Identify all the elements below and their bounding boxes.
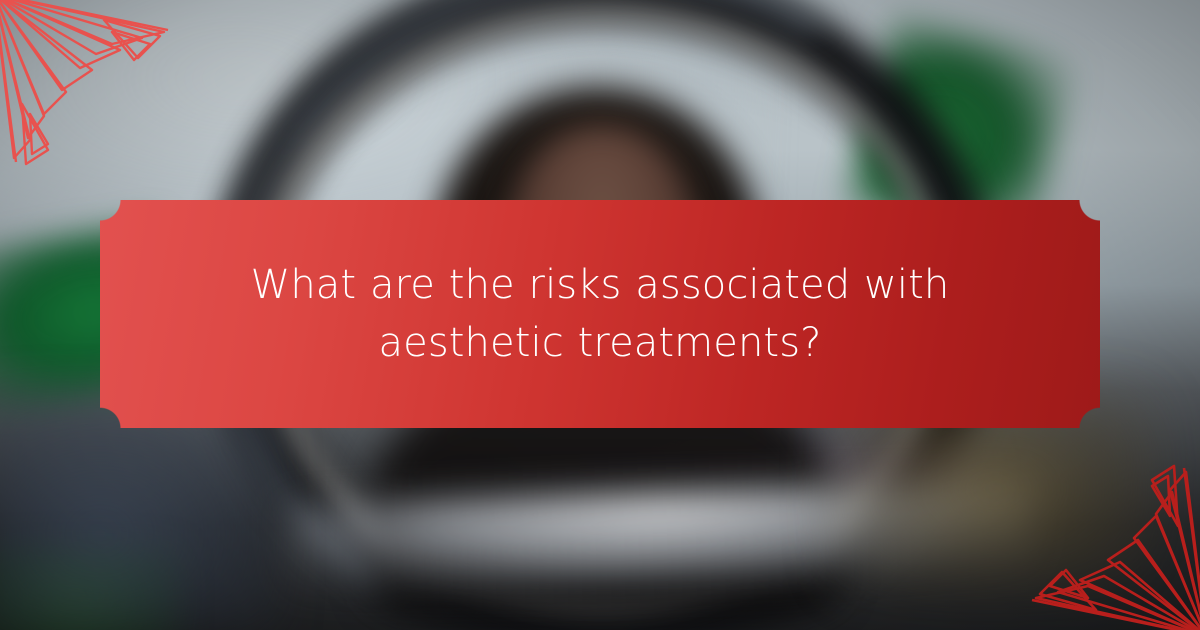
headline-banner: What are the risks associated with aesth… [100, 200, 1100, 428]
share-card: What are the risks associated with aesth… [0, 0, 1200, 630]
page-title: What are the risks associated with aesth… [218, 256, 982, 373]
